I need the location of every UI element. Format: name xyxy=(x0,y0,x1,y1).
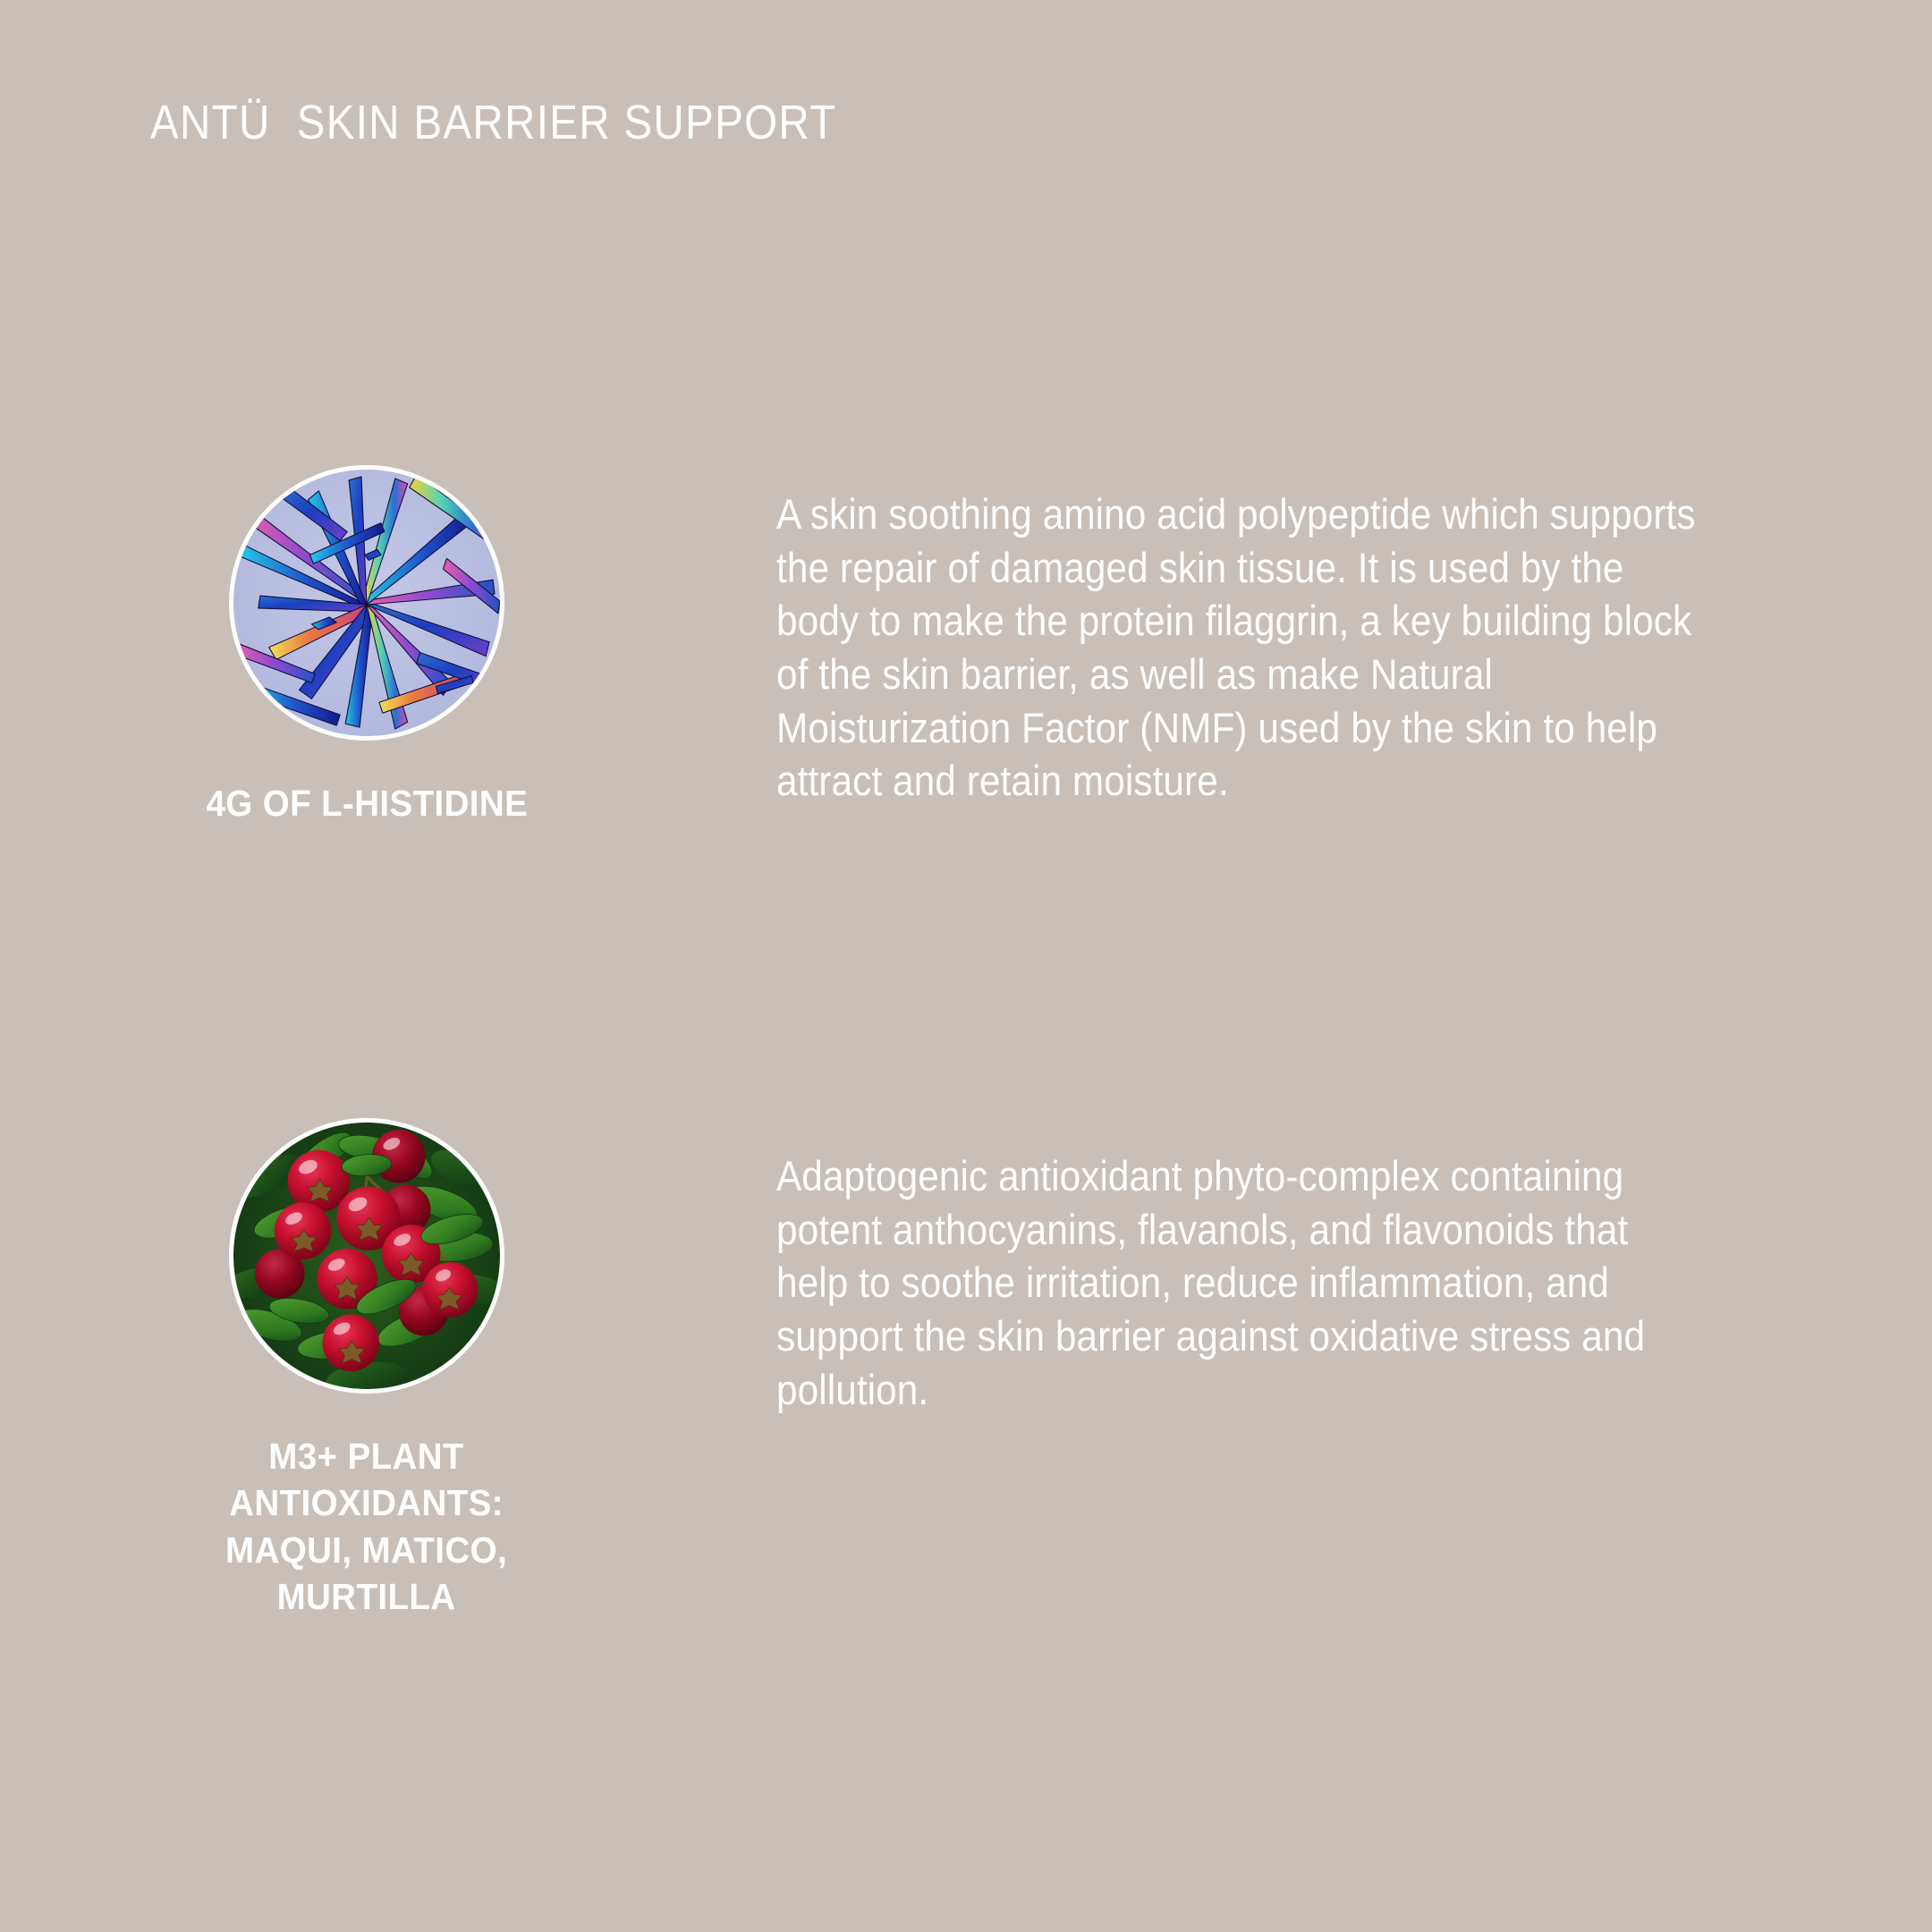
page-title: ANTÜ SKIN BARRIER SUPPORT xyxy=(150,97,836,149)
poster-canvas: ANTÜ SKIN BARRIER SUPPORT xyxy=(0,0,1932,1932)
ingredient-name-antioxidants: M3+ PLANT ANTIOXIDANTS: MAQUI, MATICO, M… xyxy=(226,1433,508,1621)
crystal-micrograph-icon xyxy=(233,470,500,736)
ingredient-description-antioxidants: Adaptogenic antioxidant phyto-complex co… xyxy=(776,1149,1710,1416)
ingredient-name-histidine: 4G OF L-HISTIDINE xyxy=(206,780,528,826)
ingredient-image-histidine xyxy=(229,465,504,741)
red-berries-icon xyxy=(233,1123,500,1389)
ingredient-media-column-histidine: 4G OF L-HISTIDINE xyxy=(161,465,572,826)
ingredient-image-antioxidants xyxy=(229,1118,504,1394)
ingredient-media-column-antioxidants: M3+ PLANT ANTIOXIDANTS: MAQUI, MATICO, M… xyxy=(161,1118,572,1621)
ingredient-description-histidine: A skin soothing amino acid polypeptide w… xyxy=(776,487,1710,808)
